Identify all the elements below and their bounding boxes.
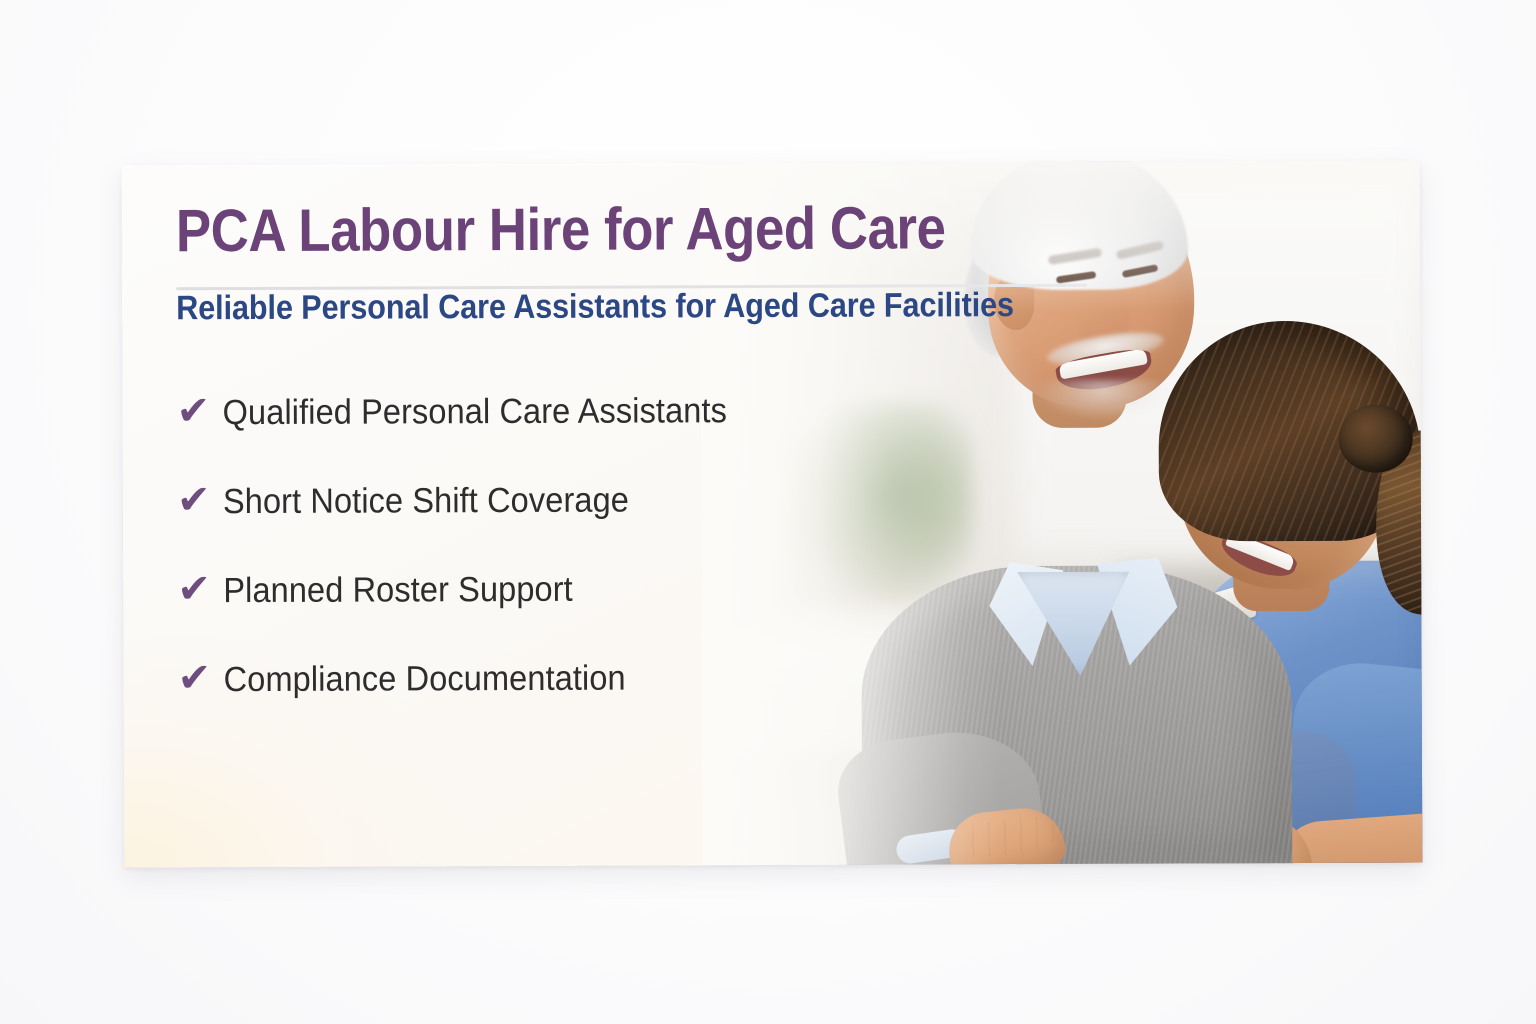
marketing-banner-card: PCA Labour Hire for Aged Care Reliable P… <box>122 161 1423 868</box>
check-icon: ✔ <box>177 391 223 431</box>
list-item: ✔ Short Notice Shift Coverage <box>177 477 1137 570</box>
banner-text-content: PCA Labour Hire for Aged Care Reliable P… <box>176 198 1138 764</box>
list-item: ✔ Compliance Documentation <box>178 655 1138 748</box>
screenshot-stage: PCA Labour Hire for Aged Care Reliable P… <box>0 0 1536 1024</box>
list-item: ✔ Qualified Personal Care Assistants <box>177 388 1137 481</box>
check-icon: ✔ <box>177 480 223 520</box>
list-item-label: Short Notice Shift Coverage <box>223 483 629 520</box>
list-item-label: Planned Roster Support <box>223 572 573 608</box>
list-item-label: Compliance Documentation <box>224 661 626 698</box>
page-subtitle: Reliable Personal Care Assistants for Ag… <box>176 287 1040 328</box>
page-title: PCA Labour Hire for Aged Care <box>176 198 1021 261</box>
list-item: ✔ Planned Roster Support <box>177 566 1137 659</box>
nurse-hair-tie <box>1339 405 1413 473</box>
list-item-label: Qualified Personal Care Assistants <box>223 394 727 431</box>
check-icon: ✔ <box>178 658 224 698</box>
check-icon: ✔ <box>177 569 223 609</box>
feature-list: ✔ Qualified Personal Care Assistants ✔ S… <box>177 388 1138 748</box>
